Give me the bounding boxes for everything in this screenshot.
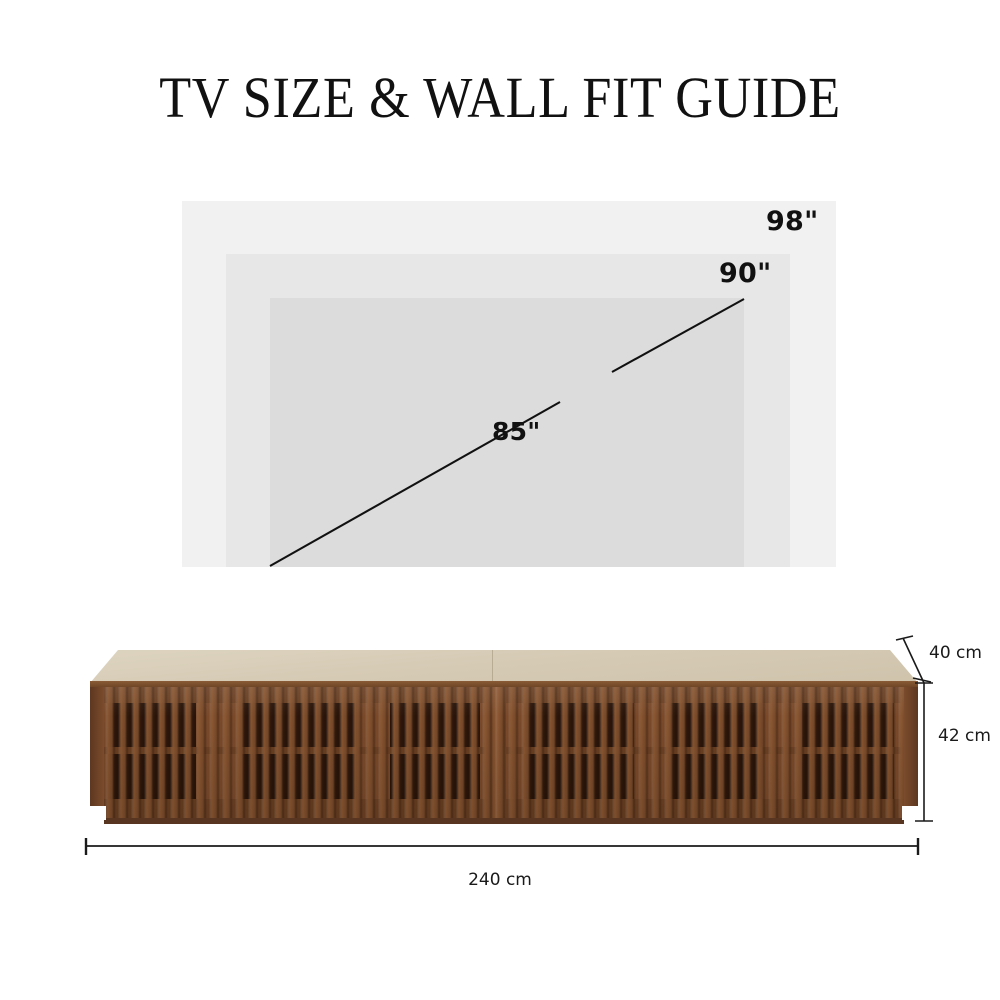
console-top-left-bevel [90, 650, 118, 683]
dimension-label-height: 42 cm [938, 726, 991, 746]
console-top-surface [90, 650, 918, 683]
console-plinth [104, 818, 904, 824]
console-plinth-notch-right [902, 806, 918, 820]
dimension-label-depth: 40 cm [929, 643, 982, 663]
guide-canvas: TV SIZE & WALL FIT GUIDE 98" 90" 85" [0, 0, 1000, 1000]
dimension-label-width: 240 cm [0, 870, 1000, 890]
console-slat-layer [90, 687, 918, 820]
console-top-seam [492, 650, 493, 683]
console-right-end-panel [904, 687, 918, 820]
console-body [90, 687, 918, 820]
console-shading [90, 687, 918, 820]
media-console-illustration [0, 0, 1000, 1000]
console-plinth-notch-left [90, 806, 106, 820]
console-left-end-panel [90, 687, 104, 820]
console-top-right-bevel [890, 650, 918, 683]
